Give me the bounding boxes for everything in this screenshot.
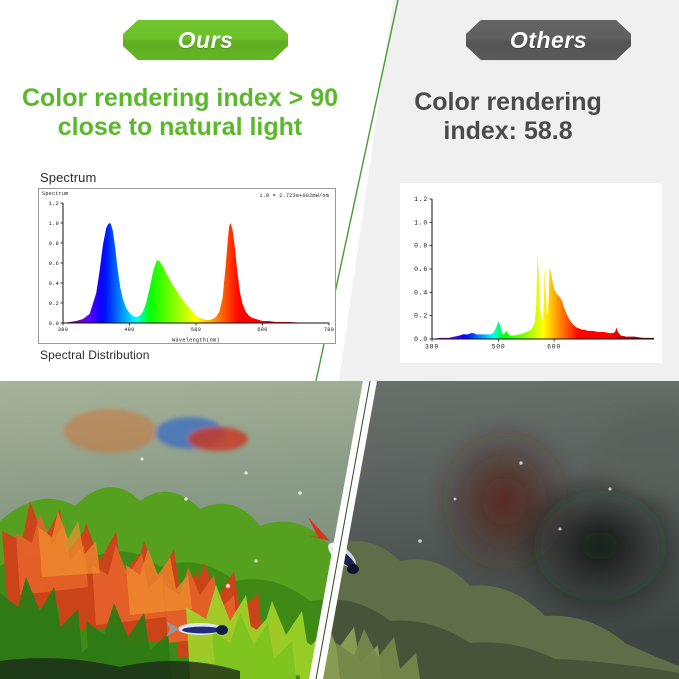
- ours-chart-block: Spectrum 0.00.20.40.60.81.01.23804805806…: [38, 170, 336, 362]
- svg-text:780: 780: [324, 327, 334, 333]
- svg-text:1.2: 1.2: [414, 196, 428, 203]
- svg-text:0.6: 0.6: [49, 261, 59, 267]
- ours-headline-line1: Color rendering index > 90: [20, 84, 340, 113]
- svg-text:0.2: 0.2: [414, 313, 428, 320]
- svg-text:0.2: 0.2: [49, 301, 59, 307]
- panel-ours: Ours Color rendering index > 90 close to…: [0, 0, 345, 381]
- ours-spectrum-chart: 0.00.20.40.60.81.01.2380480580680780Wave…: [39, 189, 335, 343]
- others-headline-line2: index: 58.8: [353, 117, 663, 146]
- svg-text:500: 500: [492, 343, 506, 350]
- others-chart-block: 0.00.20.40.60.81.01.2380500600: [400, 183, 662, 363]
- svg-text:1.0: 1.0: [414, 219, 428, 226]
- svg-text:0.0: 0.0: [414, 336, 428, 343]
- photo-comparison-area: [0, 381, 679, 679]
- ours-chart-title: Spectrum: [40, 170, 336, 185]
- svg-text:1.0: 1.0: [49, 221, 59, 227]
- top-comparison-area: Ours Color rendering index > 90 close to…: [0, 0, 679, 381]
- svg-text:0.4: 0.4: [49, 281, 59, 287]
- ours-chart-frame: 0.00.20.40.60.81.01.2380480580680780Wave…: [38, 188, 336, 344]
- svg-text:680: 680: [257, 327, 267, 333]
- ours-headline: Color rendering index > 90 close to natu…: [20, 84, 340, 142]
- ours-chart-inner-label: Spectrum: [42, 191, 69, 197]
- ours-chart-caption: Spectral Distribution: [40, 348, 336, 362]
- ours-normalization-note: 1.0 = 2.723e+002mW/nm: [259, 193, 329, 199]
- svg-text:600: 600: [547, 343, 561, 350]
- others-headline-line1: Color rendering: [353, 88, 663, 117]
- svg-text:Wavelength(nm): Wavelength(nm): [172, 338, 220, 344]
- ours-badge-label: Ours: [178, 27, 234, 54]
- comparison-infographic: Ours Color rendering index > 90 close to…: [0, 0, 679, 679]
- svg-text:480: 480: [124, 327, 134, 333]
- others-spectrum-chart: 0.00.20.40.60.81.01.2380500600: [400, 183, 662, 363]
- others-headline: Color rendering index: 58.8: [353, 88, 663, 146]
- svg-text:380: 380: [425, 343, 439, 350]
- svg-text:580: 580: [191, 327, 201, 333]
- svg-text:1.2: 1.2: [49, 201, 59, 207]
- svg-text:380: 380: [58, 327, 68, 333]
- svg-text:0.8: 0.8: [414, 243, 428, 250]
- svg-text:0.4: 0.4: [414, 289, 428, 296]
- others-badge-label: Others: [510, 27, 587, 54]
- svg-text:0.0: 0.0: [49, 321, 59, 327]
- ours-headline-line2: close to natural light: [20, 113, 340, 142]
- svg-text:0.6: 0.6: [414, 266, 428, 273]
- others-badge: Others: [466, 20, 631, 60]
- ours-badge: Ours: [123, 20, 288, 60]
- svg-text:0.8: 0.8: [49, 241, 59, 247]
